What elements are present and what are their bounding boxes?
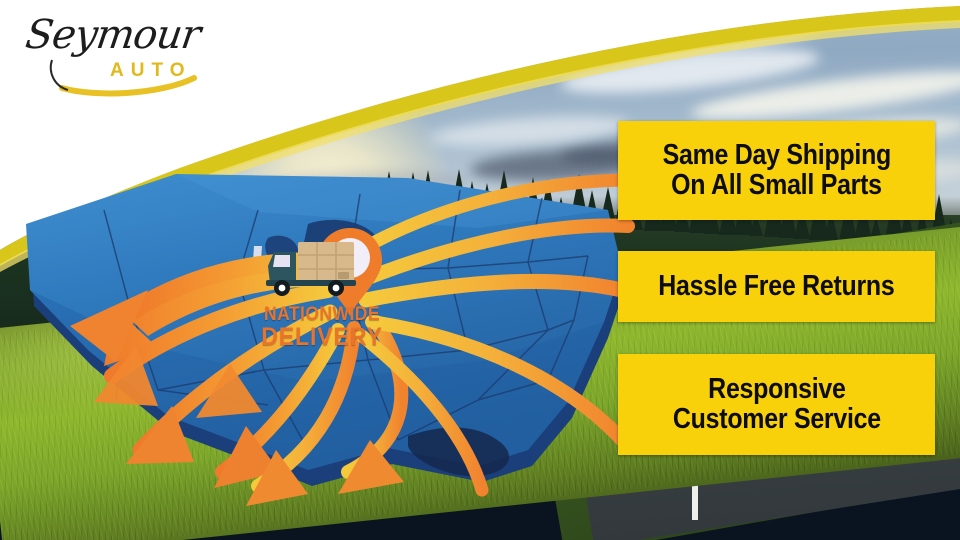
- feature-banner-same-day-shipping[interactable]: Same Day Shipping On All Small Parts: [618, 121, 935, 220]
- feature-banner-hassle-free-returns[interactable]: Hassle Free Returns: [618, 251, 935, 322]
- banner1-line-1: Same Day Shipping: [662, 141, 890, 171]
- nationwide-delivery-label: NATIONWIDE DELIVERY: [254, 306, 390, 349]
- brand-logo[interactable]: Seymour AUTO: [22, 14, 212, 100]
- label-line-2: DELIVERY: [259, 325, 384, 350]
- banner3-line-2: Customer Service: [673, 405, 881, 435]
- banner3-line-1: Responsive: [708, 375, 845, 405]
- delivery-truck-icon: [266, 242, 356, 296]
- promo-banner-image: Seymour AUTO: [0, 0, 960, 540]
- feature-banner-responsive-customer-service[interactable]: Responsive Customer Service: [618, 354, 935, 455]
- banner2-line-1: Hassle Free Returns: [658, 272, 894, 302]
- banner1-line-2: On All Small Parts: [671, 171, 882, 201]
- logo-swoosh-icon: [22, 14, 212, 100]
- logo-auto-text: AUTO: [110, 60, 191, 82]
